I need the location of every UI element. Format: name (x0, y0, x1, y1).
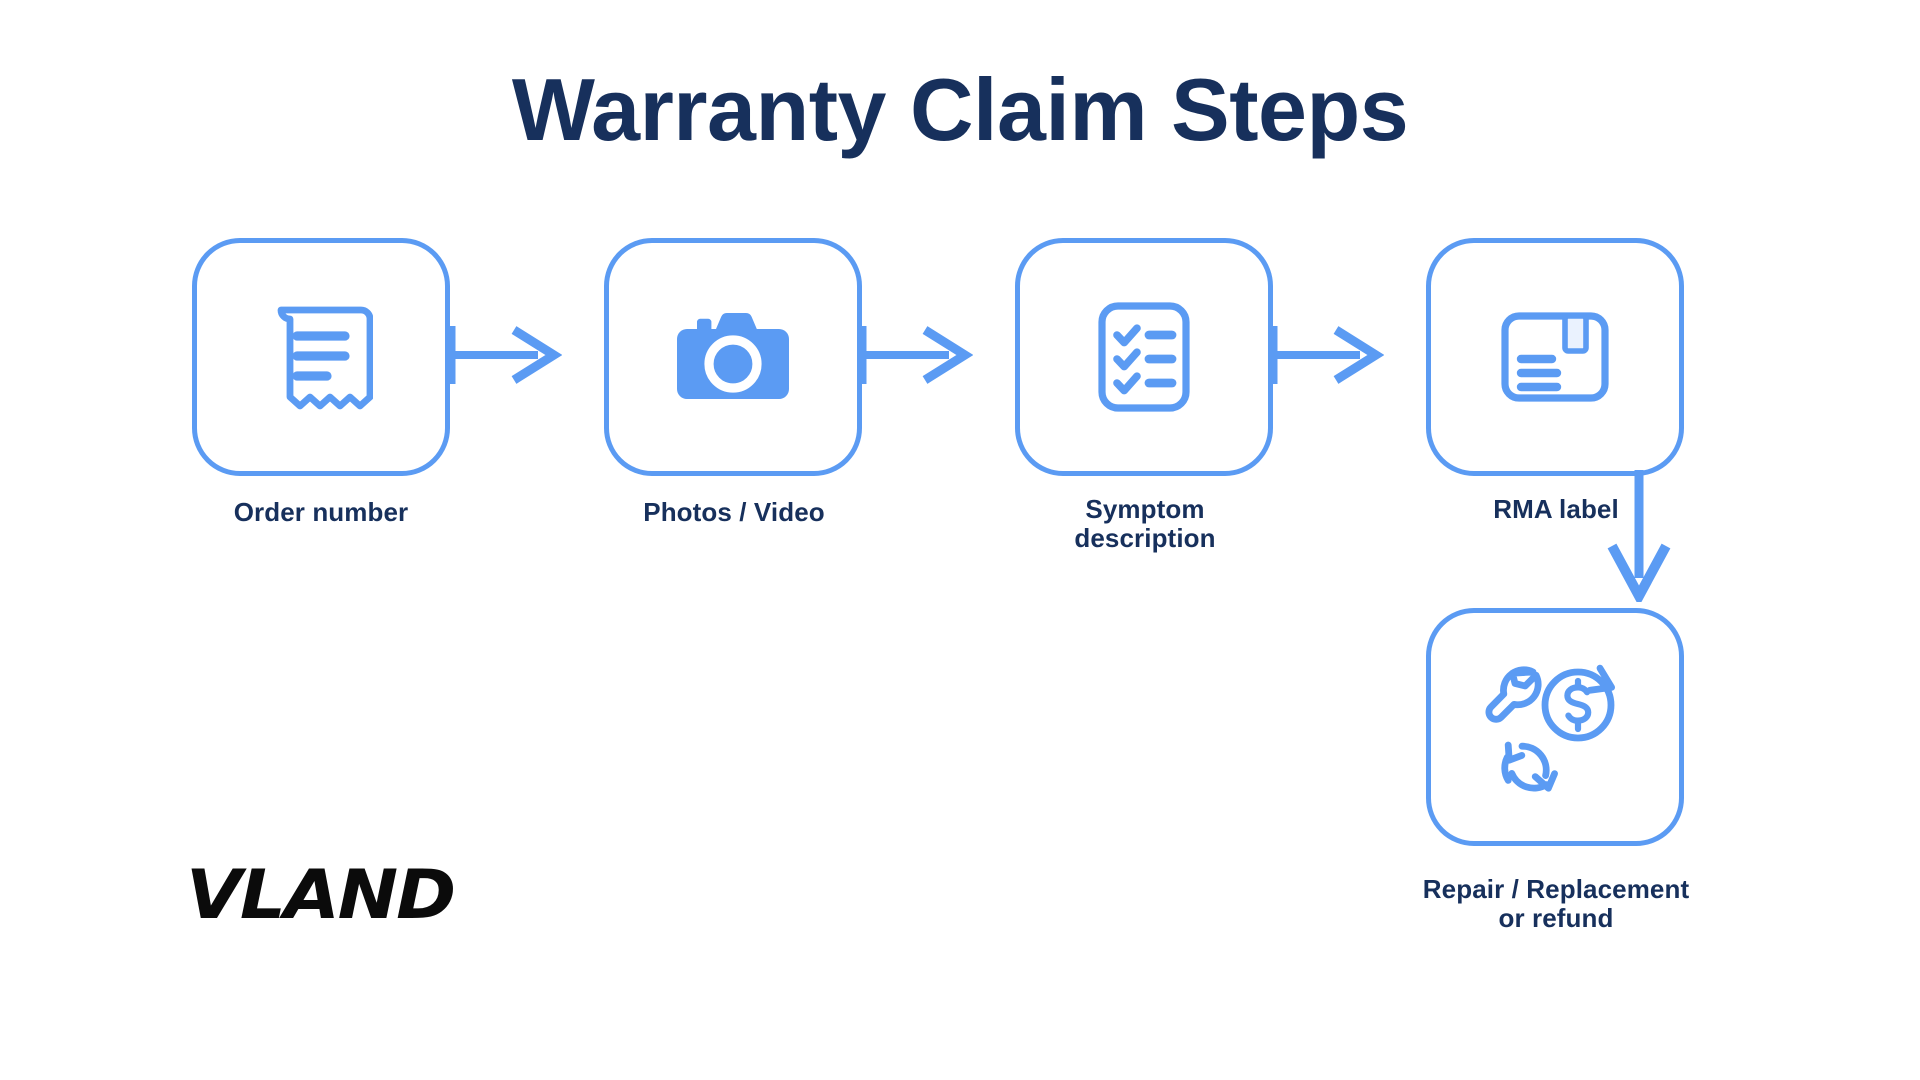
checklist-icon (1094, 298, 1194, 416)
step-label-text: RMA label (1493, 494, 1619, 524)
shipping-box-icon (1498, 308, 1612, 406)
receipt-icon (269, 299, 373, 415)
arrow-right-icon (861, 320, 973, 390)
step-label-text-line1: Symptom (995, 495, 1295, 524)
step-label-photos-video: Photos / Video (584, 498, 884, 527)
vland-logo-text: VLAND (186, 862, 454, 934)
step-card-photos-video[interactable] (604, 238, 862, 476)
step-card-symptom-description[interactable] (1015, 238, 1273, 476)
step-label-repair-replacement-refund: Repair / Replacement or refund (1390, 875, 1722, 933)
step-label-text-line2: or refund (1390, 904, 1722, 933)
camera-icon (669, 305, 797, 409)
step-label-text-line1: Repair / Replacement (1390, 875, 1722, 904)
arrow-right-icon (1272, 320, 1384, 390)
step-label-text-line2: description (995, 524, 1295, 553)
page-title: Warranty Claim Steps (0, 64, 1920, 156)
step-card-repair-replacement-refund[interactable] (1426, 608, 1684, 846)
step-label-text: Photos / Video (643, 497, 825, 527)
repair-refund-icon (1478, 657, 1632, 797)
step-label-symptom-description: Symptom description (995, 495, 1295, 553)
step-card-rma-label[interactable] (1426, 238, 1684, 476)
arrow-down-icon (1604, 470, 1674, 602)
step-label-order-number: Order number (171, 498, 471, 527)
arrow-right-icon (450, 320, 562, 390)
vland-logo: VLAND (186, 862, 462, 934)
diagram-canvas: Warranty Claim Steps Order number (0, 0, 1920, 1080)
step-label-text: Order number (234, 497, 409, 527)
step-card-order-number[interactable] (192, 238, 450, 476)
